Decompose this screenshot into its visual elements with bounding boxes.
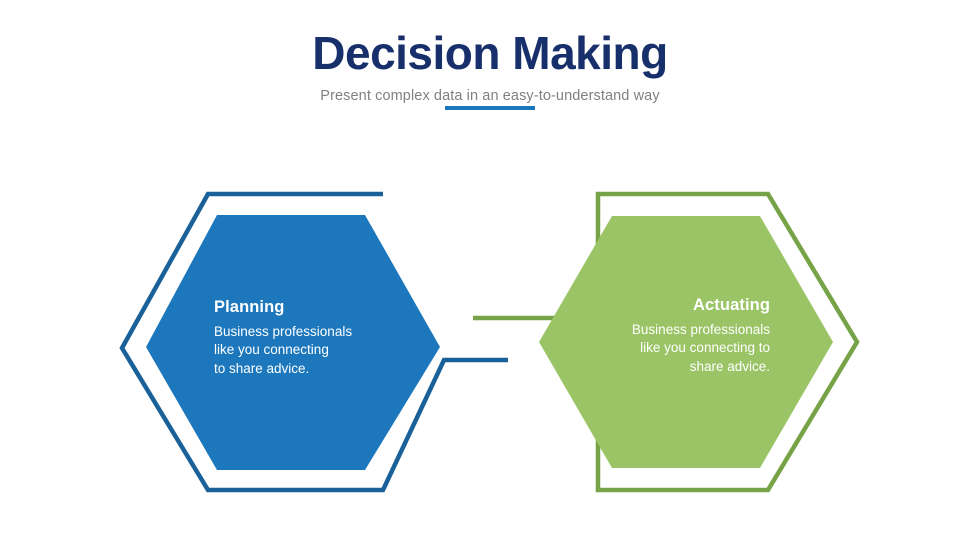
actuating-body-line-2: like you connecting to [590, 339, 770, 357]
actuating-text-block: Actuating Business professionals like yo… [590, 296, 770, 376]
planning-text-block: Planning Business professionals like you… [214, 298, 389, 378]
actuating-body-line-1: Business professionals [590, 321, 770, 339]
planning-body-line-3: to share advice. [214, 360, 389, 378]
diagram-svg [0, 0, 980, 551]
slide-canvas: Decision Making Present complex data in … [0, 0, 980, 551]
actuating-heading: Actuating [590, 296, 770, 314]
hexagon-diagram [0, 0, 980, 551]
actuating-body-line-3: share advice. [590, 358, 770, 376]
planning-heading: Planning [214, 298, 389, 316]
planning-body-line-2: like you connecting [214, 341, 389, 359]
planning-body-line-1: Business professionals [214, 323, 389, 341]
